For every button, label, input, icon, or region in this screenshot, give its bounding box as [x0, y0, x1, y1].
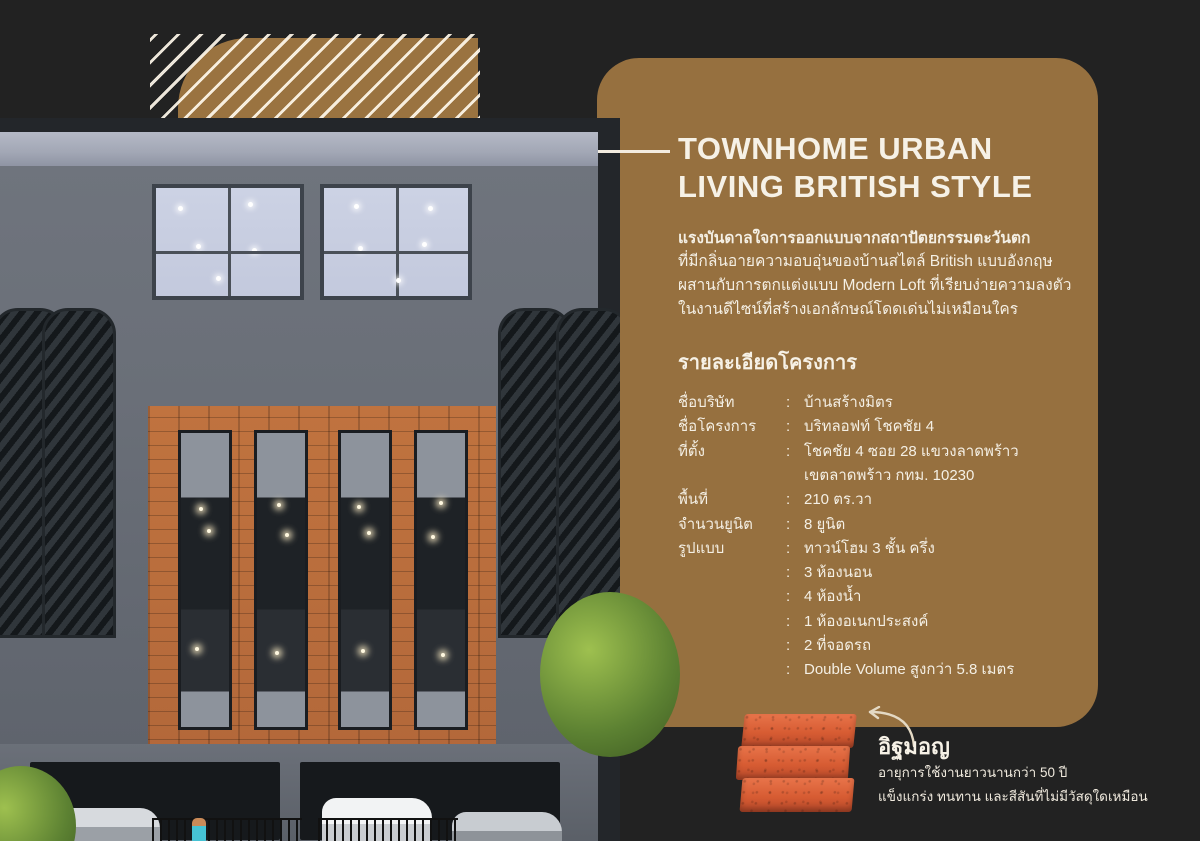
detail-value: Double Volume สูงกว่า 5.8 เมตร [804, 658, 1078, 682]
detail-separator: : [786, 658, 804, 682]
detail-value: 4 ห้องน้ำ [804, 585, 1078, 609]
detail-row: ชื่อบริษัท:บ้านสร้างมิตร [678, 391, 1078, 415]
detail-value: บ้านสร้างมิตร [804, 391, 1078, 415]
detail-value: บริทลอฟท์ โชคชัย 4 [804, 415, 1078, 439]
detail-row: :Double Volume สูงกว่า 5.8 เมตร [678, 658, 1078, 682]
detail-separator: : [786, 585, 804, 609]
detail-value: 8 ยูนิต [804, 513, 1078, 537]
brick-bottom [740, 778, 855, 812]
fence-railing-right [318, 818, 458, 841]
detail-row: เขตลาดพร้าว กทม. 10230 [678, 464, 1078, 488]
headline-accent-line [598, 150, 670, 153]
detail-label [678, 561, 786, 585]
detail-label [678, 585, 786, 609]
detail-value: โชคชัย 4 ซอย 28 แขวงลาดพร้าว [804, 440, 1078, 464]
facade-window-3 [338, 430, 392, 730]
facade-window-1 [178, 430, 232, 730]
detail-separator: : [786, 513, 804, 537]
panel-content: TOWNHOME URBAN LIVING BRITISH STYLE แรงบ… [678, 130, 1078, 683]
detail-row: :3 ห้องนอน [678, 561, 1078, 585]
clerestory-window-left [152, 184, 304, 300]
brick-feature-title: อิฐมอญ [878, 734, 1178, 760]
brick-feature-sub-2: แข็งแกร่ง ทนทาน และสีสันที่ไม่มีวัสดุใดเ… [878, 787, 1178, 808]
louvre-screen-right-outer [556, 308, 620, 638]
detail-separator: : [786, 440, 804, 464]
detail-separator: : [786, 610, 804, 634]
detail-label: ชื่อโครงการ [678, 415, 786, 439]
detail-separator: : [786, 561, 804, 585]
detail-row: ชื่อโครงการ:บริทลอฟท์ โชคชัย 4 [678, 415, 1078, 439]
detail-value: เขตลาดพร้าว กทม. 10230 [804, 464, 1078, 488]
detail-value: 1 ห้องอเนกประสงค์ [804, 610, 1078, 634]
intro-line-1: แรงบันดาลใจการออกแบบจากสถาปัตยกรรมตะวันต… [678, 227, 1078, 251]
fence-railing-left [152, 818, 302, 841]
detail-separator: : [786, 537, 804, 561]
detail-value: 2 ที่จอดรถ [804, 634, 1078, 658]
tree-foliage-right [540, 592, 680, 757]
detail-label [678, 658, 786, 682]
detail-label [678, 610, 786, 634]
detail-label: พื้นที่ [678, 488, 786, 512]
brick-top [741, 714, 857, 748]
detail-value: 210 ตร.วา [804, 488, 1078, 512]
detail-separator: : [786, 634, 804, 658]
detail-separator: : [786, 391, 804, 415]
building-exterior-photo [0, 118, 620, 841]
detail-separator: : [786, 488, 804, 512]
pedestrian-figure [192, 818, 206, 841]
details-section-title: รายละเอียดโครงการ [678, 346, 1078, 378]
headline-line-1: TOWNHOME URBAN [678, 130, 1078, 168]
brick-feature-text: อิฐมอญ อายุการใช้งานยาวนานกว่า 50 ปี แข็… [878, 734, 1178, 808]
detail-row: จำนวนยูนิต:8 ยูนิต [678, 513, 1078, 537]
detail-row: พื้นที่:210 ตร.วา [678, 488, 1078, 512]
detail-value: 3 ห้องนอน [804, 561, 1078, 585]
parked-car-right [452, 812, 562, 841]
brick-stack-icon [735, 710, 860, 820]
detail-row: ที่ตั้ง:โชคชัย 4 ซอย 28 แขวงลาดพร้าว [678, 440, 1078, 464]
detail-row: :4 ห้องน้ำ [678, 585, 1078, 609]
detail-row: :2 ที่จอดรถ [678, 634, 1078, 658]
facade-window-2 [254, 430, 308, 730]
intro-line-2: ที่มีกลิ่นอายความอบอุ่นของบ้านสไตล์ Brit… [678, 250, 1078, 274]
facade-window-4 [414, 430, 468, 730]
brick-middle [736, 746, 850, 780]
detail-label: จำนวนยูนิต [678, 513, 786, 537]
detail-separator [786, 464, 804, 488]
detail-label [678, 464, 786, 488]
detail-separator: : [786, 415, 804, 439]
detail-label: รูปแบบ [678, 537, 786, 561]
project-details-list: ชื่อบริษัท:บ้านสร้างมิตรชื่อโครงการ:บริท… [678, 391, 1078, 683]
louvre-screen-left-inner [42, 308, 116, 638]
detail-label: ชื่อบริษัท [678, 391, 786, 415]
detail-row: :1 ห้องอเนกประสงค์ [678, 610, 1078, 634]
brick-feature-sub-1: อายุการใช้งานยาวนานกว่า 50 ปี [878, 763, 1178, 784]
intro-paragraph: แรงบันดาลใจการออกแบบจากสถาปัตยกรรมตะวันต… [678, 227, 1078, 321]
detail-value: ทาวน์โฮม 3 ชั้น ครึ่ง [804, 537, 1078, 561]
detail-label: ที่ตั้ง [678, 440, 786, 464]
clerestory-window-right [320, 184, 472, 300]
intro-line-3: ผสานกับการตกแต่งแบบ Modern Loft ที่เรียบ… [678, 274, 1078, 298]
detail-row: รูปแบบ:ทาวน์โฮม 3 ชั้น ครึ่ง [678, 537, 1078, 561]
intro-line-4: ในงานดีไซน์ที่สร้างเอกลักษณ์โดดเด่นไม่เห… [678, 298, 1078, 322]
brick-facade-block [148, 406, 496, 754]
page-title: TOWNHOME URBAN LIVING BRITISH STYLE [678, 130, 1078, 207]
building-parapet [0, 132, 598, 166]
detail-label [678, 634, 786, 658]
headline-line-2: LIVING BRITISH STYLE [678, 168, 1078, 206]
